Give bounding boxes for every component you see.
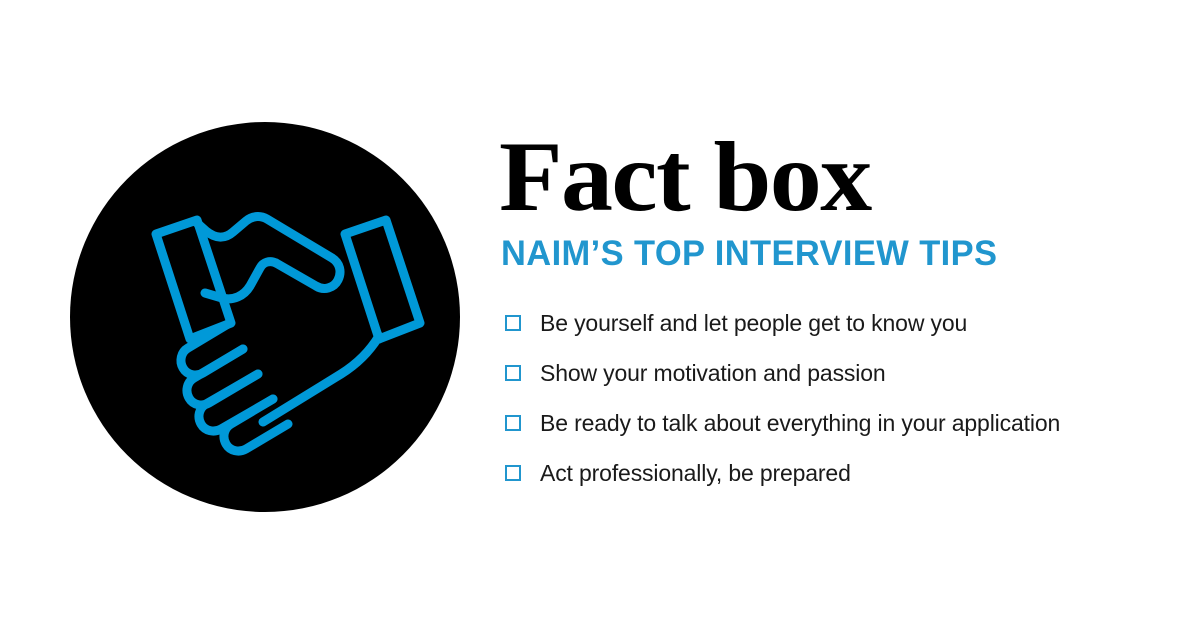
unchecked-checkbox-icon <box>505 365 521 381</box>
tips-list: Be yourself and let people get to know y… <box>499 298 1159 498</box>
page-subtitle: NAIM’S TOP INTERVIEW TIPS <box>501 235 1149 273</box>
list-item-label: Be yourself and let people get to know y… <box>540 310 967 336</box>
page-title: Fact box <box>499 131 1185 223</box>
list-item: Act professionally, be prepared <box>499 448 1159 498</box>
list-item: Show your motivation and passion <box>499 348 1159 398</box>
list-item-label: Show your motivation and passion <box>540 360 886 386</box>
list-item: Be ready to talk about everything in you… <box>499 398 1159 448</box>
unchecked-checkbox-icon <box>505 415 521 431</box>
handshake-icon <box>70 122 460 512</box>
handshake-badge <box>70 122 460 512</box>
fact-box-graphic: Fact box NAIM’S TOP INTERVIEW TIPS Be yo… <box>0 0 1200 627</box>
unchecked-checkbox-icon <box>505 315 521 331</box>
unchecked-checkbox-icon <box>505 465 521 481</box>
list-item: Be yourself and let people get to know y… <box>499 298 1159 348</box>
fact-box-content: Fact box NAIM’S TOP INTERVIEW TIPS Be yo… <box>499 131 1159 498</box>
list-item-label: Act professionally, be prepared <box>540 460 851 486</box>
list-item-label: Be ready to talk about everything in you… <box>540 410 1060 436</box>
